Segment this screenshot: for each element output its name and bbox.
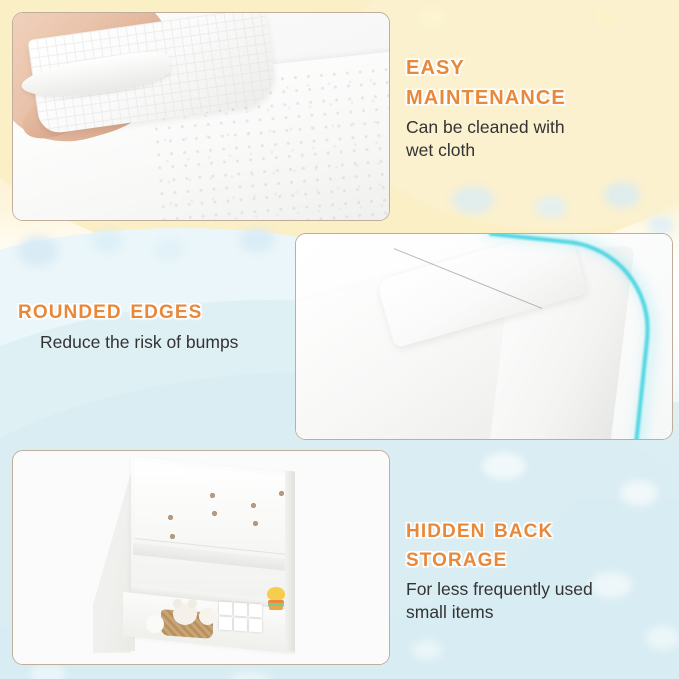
headline-line-1: Easy — [406, 50, 668, 80]
screw-hole — [251, 503, 256, 508]
photo-hidden-back-storage — [12, 450, 390, 665]
decorative-dot — [596, 10, 616, 25]
decorative-dot — [452, 186, 494, 214]
decorative-dot — [240, 228, 274, 252]
screw-hole — [210, 493, 215, 498]
decorative-dot — [646, 626, 679, 650]
decorative-dot — [604, 182, 640, 208]
decorative-dot — [412, 640, 442, 660]
headline-line-2: Maintenance — [406, 80, 668, 110]
plush-bear-small — [146, 615, 164, 633]
shelf-right-edge — [285, 470, 295, 651]
decorative-dot — [482, 452, 526, 480]
headline-line-2: Storage — [406, 543, 668, 572]
subtext-line-1: Can be cleaned with — [406, 116, 668, 138]
subtext-line-2: wet cloth — [406, 139, 668, 161]
feature-text-easy-maintenance: Easy Maintenance Can be cleaned with wet… — [406, 50, 668, 161]
shelf-upper-panel — [135, 461, 287, 555]
decorative-dot — [156, 240, 182, 259]
duck-ring-3 — [269, 606, 283, 610]
decorative-dot — [420, 8, 446, 26]
letter-blocks — [219, 601, 263, 636]
toy-duck — [267, 587, 285, 611]
screw-hole — [253, 521, 258, 526]
subtext-easy-maintenance: Can be cleaned with wet cloth — [406, 116, 668, 161]
headline-easy-maintenance: Easy Maintenance — [406, 50, 668, 109]
decorative-dot — [92, 230, 122, 252]
screw-hole — [212, 511, 217, 516]
headline-hidden-back-storage: Hidden Back Storage — [406, 514, 668, 571]
decorative-dot — [620, 480, 658, 506]
plush-bear-small-2 — [199, 608, 216, 625]
plush-bear — [173, 603, 197, 625]
headline-line-1: Hidden Back — [406, 514, 668, 543]
headline-rounded-edges: Rounded Edges — [18, 295, 308, 324]
photo-rounded-edges — [295, 233, 673, 440]
subtext-rounded-edges: Reduce the risk of bumps — [18, 331, 308, 353]
feature-text-hidden-back-storage: Hidden Back Storage For less frequently … — [406, 514, 668, 623]
decorative-dot — [536, 196, 566, 218]
screw-hole — [279, 491, 284, 496]
headline-line-1: Rounded Edges — [18, 295, 308, 324]
screw-hole — [170, 534, 175, 539]
feature-text-rounded-edges: Rounded Edges Reduce the risk of bumps — [18, 295, 308, 353]
screw-hole — [168, 515, 173, 520]
subtext-hidden-back-storage: For less frequently used small items — [406, 578, 668, 623]
subtext-line-2: small items — [406, 601, 668, 623]
decorative-dot — [30, 664, 66, 679]
photo-easy-maintenance — [12, 12, 390, 221]
subtext-line-1: Reduce the risk of bumps — [40, 331, 308, 353]
duck-body — [267, 587, 285, 601]
decorative-dot — [18, 236, 58, 266]
subtext-line-1: For less frequently used — [406, 578, 668, 600]
feature-collage: Easy Maintenance Can be cleaned with wet… — [0, 0, 679, 679]
